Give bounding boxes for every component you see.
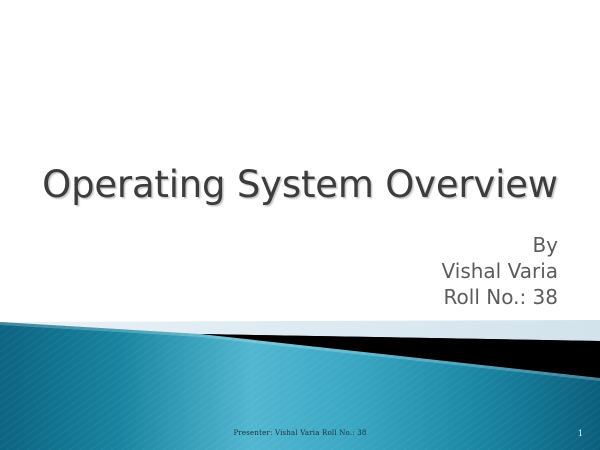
slide-decoration-artwork [0, 0, 600, 450]
pale-blue-wedge [0, 320, 600, 341]
subtitle-line-by: By [442, 232, 558, 258]
title-block: Operating System Overview [0, 165, 600, 206]
subtitle-line-roll-no: Roll No.: 38 [442, 284, 558, 310]
teal-edge-highlight [0, 322, 600, 381]
presentation-slide: Operating System Overview By Vishal Vari… [0, 0, 600, 450]
page-title: Operating System Overview [0, 165, 600, 206]
black-wedge [200, 334, 600, 378]
subtitle-line-author: Vishal Varia [442, 258, 558, 284]
slide-footer: Presenter: Vishal Varia Roll No.: 38 [0, 429, 600, 437]
black-wedge-body [200, 334, 600, 379]
slide-number: 1 [578, 429, 583, 438]
subtitle-block: By Vishal Varia Roll No.: 38 [442, 232, 558, 310]
